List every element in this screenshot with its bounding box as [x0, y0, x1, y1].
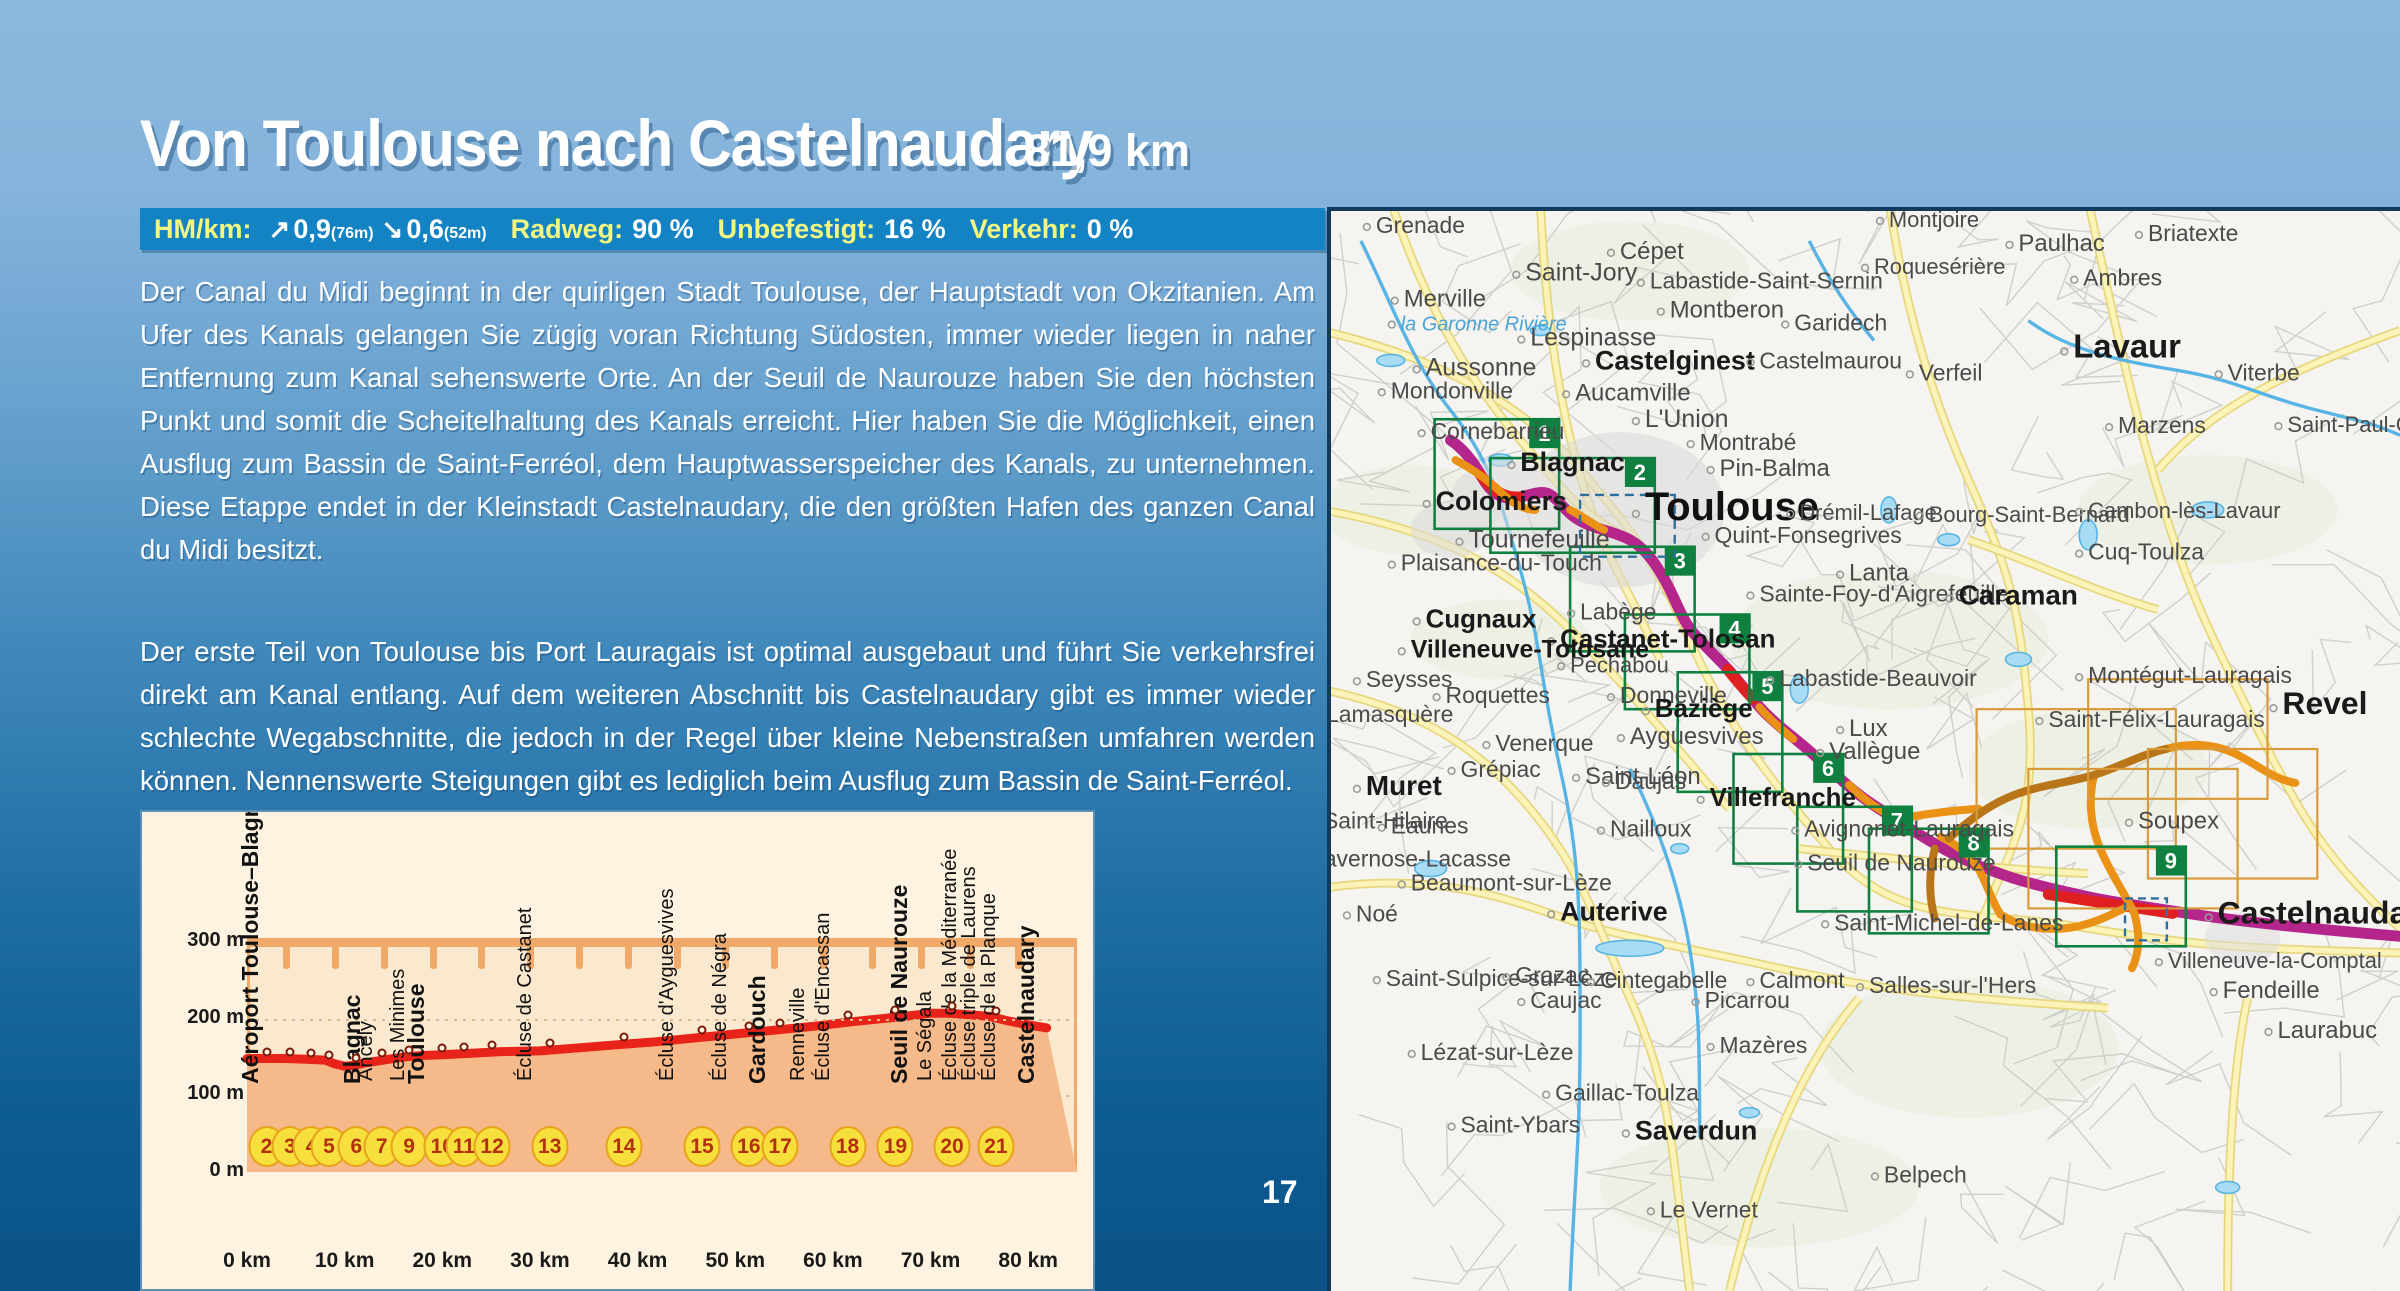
- profile-waypoint-dot: [377, 1049, 386, 1058]
- profile-waypoint-dot: [488, 1041, 497, 1050]
- map-place-label: Briatexte: [2148, 220, 2238, 246]
- grid-line: [247, 1095, 1077, 1097]
- page-number: 17: [1262, 1174, 1298, 1211]
- overview-map[interactable]: 123456789GrenadeMontjoirePaulhacGirousse…: [1327, 207, 2400, 1291]
- map-place-label: Castelnaudary: [2218, 894, 2400, 930]
- map-place-label: Roquettes: [1446, 682, 1550, 708]
- x-tick-label: 20 km: [413, 1249, 473, 1273]
- page-title: Von Toulouse nach Castelnaudary: [140, 105, 1092, 181]
- page-background: Von Toulouse nach Castelnaudary 81,9 km …: [0, 0, 2400, 1291]
- map-place-label: Villefranche: [1710, 784, 1856, 812]
- map-place-label: Cambon-lès-Lavaur: [2088, 498, 2280, 523]
- map-canvas[interactable]: 123456789GrenadeMontjoirePaulhacGirousse…: [1331, 211, 2400, 1291]
- profile-waypoint-dot: [891, 1006, 900, 1015]
- map-place-label: Marzens: [2118, 412, 2206, 438]
- traffic-value: 0 %: [1087, 214, 1134, 245]
- profile-poi-label: Écluse d'Ayguesvives: [657, 888, 677, 1080]
- profile-poi-label: Écluse de Négra: [710, 933, 730, 1081]
- profile-waypoint-dot: [307, 1048, 316, 1057]
- map-place-label: Montberon: [1670, 297, 1784, 324]
- profile-poi-label: Écluse de Castanet: [515, 907, 535, 1080]
- descent-total: (52m): [444, 225, 487, 243]
- map-place-label: Verfeil: [1919, 359, 1983, 385]
- profile-waypoint-dot: [991, 1006, 1000, 1015]
- map-place-label: Saint-Hilaire: [1331, 808, 1448, 834]
- y-tick-label: 200 m: [187, 1006, 244, 1029]
- map-place-label: Venerque: [1495, 730, 1593, 756]
- profile-marker[interactable]: 9: [391, 1126, 428, 1167]
- profile-tick: [332, 947, 339, 969]
- y-tick-label: 0 m: [210, 1159, 244, 1182]
- profile-waypoint-dot: [438, 1043, 447, 1052]
- map-place-label: Montjoire: [1889, 211, 1979, 232]
- profile-waypoint-dot: [262, 1047, 271, 1056]
- map-place-label: Belpech: [1884, 1161, 1967, 1187]
- map-place-label: Aucamville: [1575, 379, 1691, 406]
- ascent-total: (76m): [331, 225, 374, 243]
- profile-poi-label: Seuil de Naurouze: [888, 884, 911, 1083]
- profile-poi-label: Le Ségala: [915, 991, 935, 1081]
- map-place-label: Baziège: [1655, 695, 1753, 723]
- map-place-label: Ayguesvives: [1630, 723, 1764, 750]
- bikepath-label: Radweg:: [511, 214, 624, 245]
- profile-tick: [381, 947, 388, 969]
- map-place-label: Gaillac-Toulza: [1555, 1080, 1699, 1106]
- map-place-label: Grépiac: [1461, 756, 1541, 782]
- map-place-label: Seuil de Naurouze: [1807, 850, 1995, 876]
- map-place-label: Avignonet-Lauragais: [1804, 816, 2014, 842]
- map-place-label: Soupex: [2138, 808, 2219, 835]
- profile-marker[interactable]: 15: [684, 1126, 721, 1167]
- elevation-profile-chart: 0 m100 m200 m300 m Aéroport Toulouse–Bla…: [140, 810, 1095, 1291]
- map-place-label: Laurabuc: [2277, 1017, 2377, 1044]
- profile-marker[interactable]: 14: [605, 1126, 642, 1167]
- map-place-label: Roquesérière: [1874, 254, 2006, 279]
- map-place-label: Caujac: [1530, 987, 1601, 1013]
- map-place-label: Labastide-Beauvoir: [1779, 665, 1977, 691]
- map-place-label: Saint-Ybars: [1461, 1112, 1581, 1138]
- map-place-label: Cuq-Toulza: [2088, 539, 2204, 565]
- profile-marker[interactable]: 17: [762, 1126, 799, 1167]
- profile-waypoint-dot: [619, 1033, 628, 1042]
- map-place-label: Garidech: [1794, 310, 1887, 336]
- profile-waypoint-dot: [843, 1011, 852, 1020]
- profile-poi-label: Écluse d'Encassan: [813, 912, 833, 1080]
- map-place-label: Lavaur: [2073, 327, 2181, 364]
- profile-waypoint-dot: [285, 1047, 294, 1056]
- descent-arrow-icon: ↘: [382, 214, 404, 245]
- profile-tick: [771, 947, 778, 969]
- profile-poi-label: Aéroport Toulouse–Blagnac: [239, 810, 262, 1084]
- map-place-label: Salles-sur-l'Hers: [1869, 972, 2036, 998]
- x-tick-label: 30 km: [510, 1249, 570, 1273]
- unpaved-label: Unbefestigt:: [718, 214, 876, 245]
- left-column: Von Toulouse nach Castelnaudary 81,9 km …: [0, 0, 1325, 1291]
- map-place-label: Revel: [2282, 685, 2367, 721]
- map-place-label: Villeneuve-la-Comptal: [2168, 948, 2382, 973]
- map-place-label: Noé: [1356, 900, 1398, 926]
- map-place-label: Mazères: [1720, 1032, 1808, 1058]
- profile-poi-label: Écluse de la Planque: [979, 893, 999, 1081]
- profile-marker[interactable]: 12: [474, 1126, 511, 1167]
- profile-tick: [283, 947, 290, 969]
- map-place-label: Ambres: [2083, 265, 2162, 291]
- map-place-label: Merville: [1404, 286, 1486, 313]
- map-place-label: Saint-Félix-Lauragais: [2048, 706, 2264, 732]
- profile-marker[interactable]: 20: [934, 1126, 971, 1167]
- map-place-label: Mondonville: [1391, 377, 1513, 403]
- map-place-label: Saint-Jory: [1525, 259, 1638, 287]
- map-place-label: Villeneuve-Tolosane: [1411, 635, 1649, 663]
- profile-waypoint-dot: [948, 1002, 957, 1011]
- total-distance-label: 81,9 km: [1025, 125, 1190, 177]
- map-place-label: Blagnac: [1520, 447, 1625, 477]
- map-place-label: Muret: [1366, 770, 1442, 801]
- x-tick-label: 80 km: [998, 1249, 1058, 1273]
- profile-waypoint-dot: [352, 1053, 361, 1062]
- profile-poi-label: Ancely: [356, 1021, 376, 1081]
- elevation-x-axis: 0 km10 km20 km30 km40 km50 km60 km70 km8…: [142, 1249, 1093, 1279]
- map-place-label: Pin-Balma: [1720, 455, 1831, 482]
- profile-marker[interactable]: 21: [977, 1126, 1014, 1167]
- profile-poi-label: Renneville: [788, 987, 808, 1080]
- profile-tick: [625, 947, 632, 969]
- map-place-label: Castelginest: [1595, 345, 1755, 375]
- map-place-label: Saverdun: [1635, 1116, 1757, 1146]
- ascent-value: 0,9: [293, 214, 331, 245]
- map-place-label: Beaumont-sur-Lèze: [1411, 869, 1612, 895]
- profile-tick: [918, 947, 925, 969]
- ascent-arrow-icon: ↗: [269, 214, 291, 245]
- profile-waypoint-dot: [698, 1026, 707, 1035]
- map-place-label: Colomiers: [1436, 486, 1567, 516]
- profile-tick: [869, 947, 876, 969]
- map-place-label: Fendeille: [2223, 977, 2320, 1004]
- x-tick-label: 60 km: [803, 1249, 863, 1273]
- y-tick-label: 300 m: [187, 929, 244, 952]
- map-place-label: Paulhac: [2018, 230, 2104, 257]
- profile-tick: [478, 947, 485, 969]
- map-place-label: Saint-Paul-Cap-de-J.: [2287, 412, 2400, 437]
- map-place-label: Viterbe: [2228, 359, 2300, 385]
- map-place-label: Grazac: [1515, 962, 1589, 988]
- map-place-label: Daujas: [1615, 768, 1686, 794]
- profile-tick: [576, 947, 583, 969]
- profile-waypoint-dot: [545, 1039, 554, 1048]
- map-place-label: Lavernose-Lacasse: [1331, 846, 1511, 872]
- x-tick-label: 0 km: [223, 1249, 271, 1273]
- description-paragraph-2: Der erste Teil von Toulouse bis Port Lau…: [140, 630, 1315, 802]
- x-tick-label: 10 km: [315, 1249, 375, 1273]
- map-place-label: Lézat-sur-Lèze: [1421, 1039, 1574, 1065]
- map-place-label: Lamasquère: [1331, 701, 1453, 727]
- map-sheet-number: 2: [1634, 460, 1646, 485]
- profile-waypoint-dot: [776, 1018, 785, 1027]
- description-paragraph-1: Der Canal du Midi beginnt in der quirlig…: [140, 270, 1315, 571]
- profile-marker[interactable]: 18: [829, 1126, 866, 1167]
- profile-waypoint-dot: [325, 1050, 334, 1059]
- map-place-label: Quint-Fonsegrives: [1715, 522, 1902, 548]
- map-place-label: Cornebarrieu: [1431, 418, 1565, 444]
- profile-poi-label: Toulouse: [405, 983, 428, 1084]
- map-place-label: Nailloux: [1610, 816, 1692, 842]
- map-place-label: Seysses: [1366, 666, 1453, 692]
- map-place-label: Calmont: [1759, 967, 1845, 993]
- route-stats-bar: HM/km: ↗ 0,9 (76m) ↘ 0,6 (52m) Radweg: 9…: [140, 208, 1325, 250]
- hm-per-km-label: HM/km:: [154, 214, 252, 245]
- descent-value: 0,6: [406, 214, 444, 245]
- profile-poi-label: Castelnaudary: [1015, 925, 1038, 1084]
- profile-marker[interactable]: 13: [531, 1126, 568, 1167]
- map-place-label: Drémil-Lafage: [1799, 500, 1937, 525]
- traffic-label: Verkehr:: [970, 214, 1078, 245]
- map-place-label: Montrabé: [1700, 429, 1797, 455]
- map-place-label: Auterive: [1560, 896, 1668, 926]
- profile-tick: [430, 947, 437, 969]
- map-place-label: Plaisance-du-Touch: [1401, 550, 1602, 576]
- map-place-label: Vallègue: [1829, 738, 1920, 765]
- x-tick-label: 50 km: [705, 1249, 765, 1273]
- profile-waypoint-dot: [405, 1045, 414, 1054]
- map-sheet-number: 9: [2165, 849, 2177, 874]
- profile-waypoint-dot: [459, 1042, 468, 1051]
- map-place-label: Caraman: [1959, 580, 2078, 611]
- map-place-label: Saint-Michel-de-Lanes: [1834, 909, 2063, 935]
- map-place-label: Cugnaux: [1426, 605, 1537, 633]
- map-place-label: la Garonne Rivière: [1401, 314, 1567, 336]
- profile-poi-label: Écluse triple de Laurens: [959, 866, 979, 1081]
- map-place-label: Labège: [1580, 598, 1656, 624]
- map-place-label: Castelmaurou: [1759, 347, 1902, 373]
- y-tick-label: 100 m: [187, 1082, 244, 1105]
- map-place-label: Labastide-Saint-Sernin: [1650, 268, 1883, 294]
- profile-marker[interactable]: 19: [877, 1126, 914, 1167]
- x-tick-label: 40 km: [608, 1249, 668, 1273]
- map-place-label: Giroussens: [2018, 211, 2134, 212]
- profile-poi-label: Écluse de la Méditerranée: [940, 848, 960, 1080]
- unpaved-value: 16 %: [884, 214, 946, 245]
- x-tick-label: 70 km: [901, 1249, 961, 1273]
- elevation-y-axis: 0 m100 m200 m300 m: [152, 812, 244, 1289]
- bikepath-value: 90 %: [632, 214, 694, 245]
- profile-waypoint-dot: [744, 1021, 753, 1030]
- map-place-label: Montégut-Lauragais: [2088, 662, 2292, 688]
- map-place-label: Le Vernet: [1660, 1196, 1759, 1222]
- map-place-label: Grenade: [1376, 212, 1465, 238]
